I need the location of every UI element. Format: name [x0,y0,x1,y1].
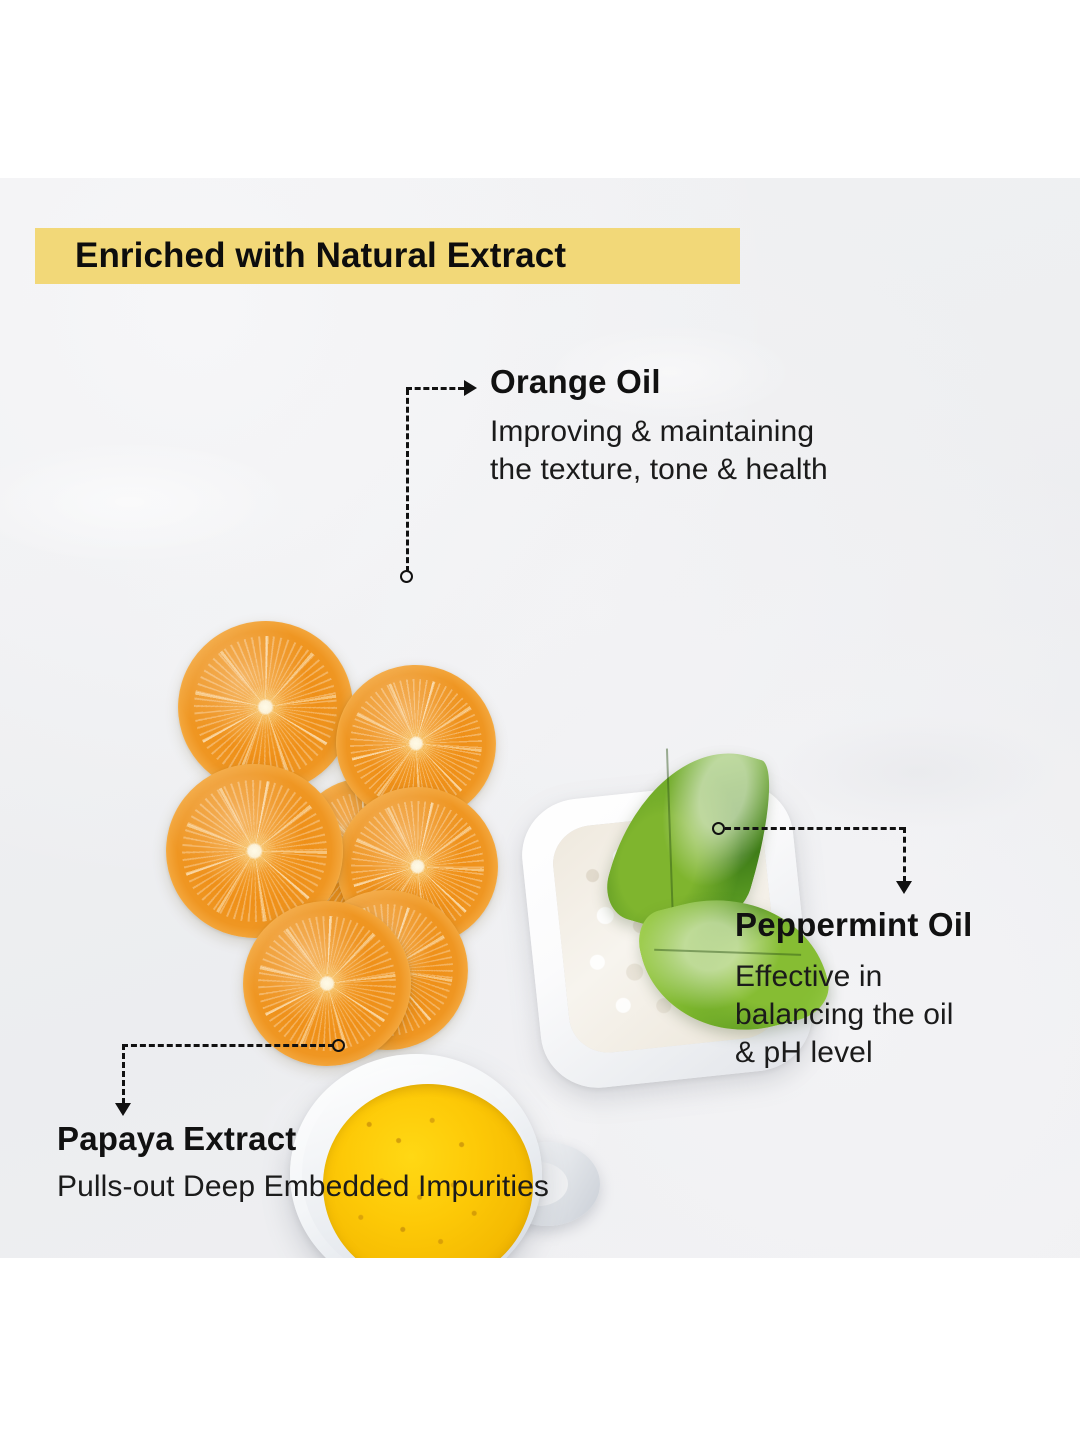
callout-title: Orange Oil [490,363,828,401]
arrowhead-right-icon [464,380,477,396]
callout-orange-oil: Orange Oil Improving & maintaining the t… [490,363,828,489]
banner-title: Enriched with Natural Extract [35,236,566,276]
callout-description-line: Pulls-out Deep Embedded Impurities [57,1168,549,1206]
callout-description-line: & pH level [735,1034,973,1072]
leader-line-vertical [122,1044,125,1104]
callout-title: Papaya Extract [57,1120,549,1158]
leader-line-horizontal [122,1044,334,1047]
callout-title: Peppermint Oil [735,906,973,944]
leader-line-horizontal [406,387,464,390]
callout-description-line: Effective in [735,958,973,996]
callout-peppermint-oil: Peppermint Oil Effective in balancing th… [735,906,973,1071]
callout-description-line: Improving & maintaining [490,413,828,451]
section-banner: Enriched with Natural Extract [35,228,740,284]
leader-line-vertical [903,827,906,882]
callout-description: Improving & maintaining the texture, ton… [490,413,828,489]
callout-description: Effective in balancing the oil & pH leve… [735,958,973,1071]
arrowhead-down-icon [896,881,912,894]
leader-line-horizontal [725,827,905,830]
callout-description-line: balancing the oil [735,996,973,1034]
anchor-dot-peppermint-oil [712,822,725,835]
leader-line-vertical [406,389,409,572]
callout-description: Pulls-out Deep Embedded Impurities [57,1168,549,1206]
callout-papaya-extract: Papaya Extract Pulls-out Deep Embedded I… [57,1120,549,1206]
ingredient-photo-backdrop [0,178,1080,1258]
arrowhead-down-icon [115,1103,131,1116]
callout-description-line: the texture, tone & health [490,451,828,489]
